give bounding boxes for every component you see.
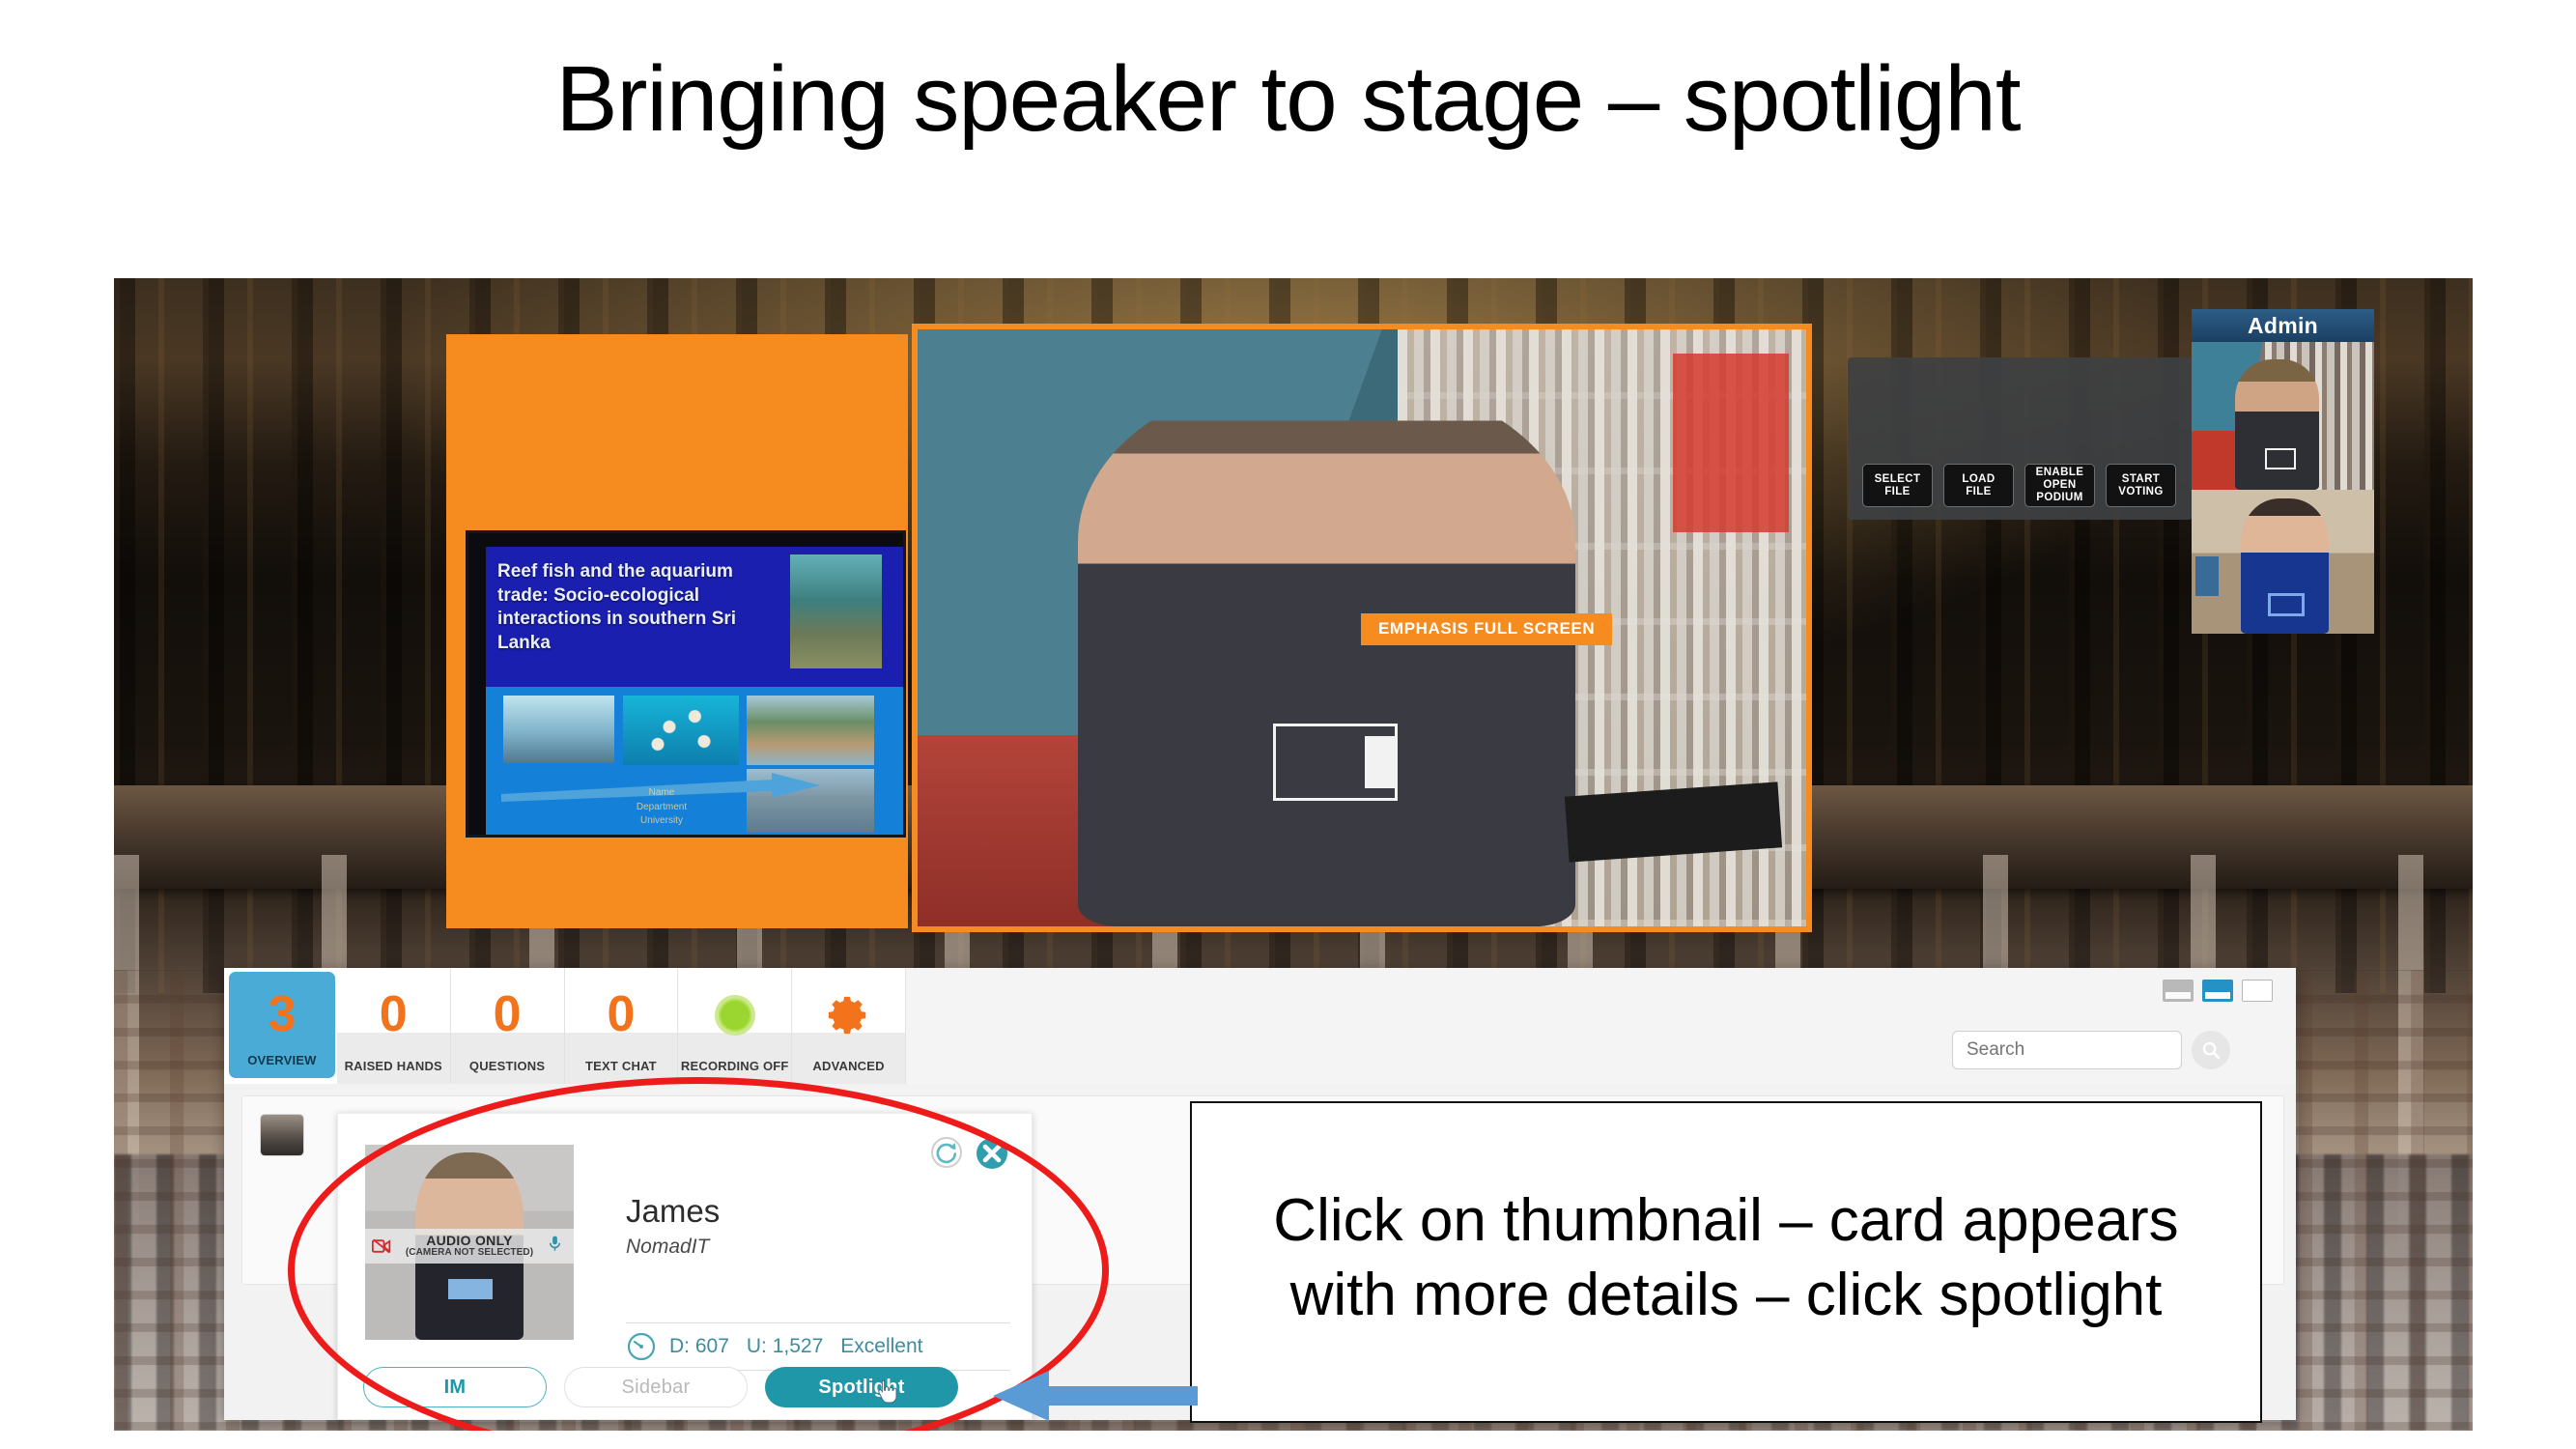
layout-view-1-button[interactable] [2163, 980, 2194, 1002]
audio-only-text: AUDIO ONLY (CAMERA NOT SELECTED) [406, 1234, 533, 1258]
tab-recording[interactable]: RECORDING OFF [678, 968, 792, 1084]
presentation-panel[interactable]: Reef fish and the aquarium trade: Socio-… [446, 334, 908, 928]
screenshot-frame: Reef fish and the aquarium trade: Socio-… [114, 278, 2473, 1431]
blue-pointer-arrow [993, 1366, 1198, 1426]
window-layout-controls[interactable] [2163, 980, 2273, 1002]
select-file-button[interactable]: SELECT FILE [1862, 464, 1933, 507]
recording-indicator-icon [715, 995, 755, 1036]
audio-only-line1: AUDIO ONLY [406, 1234, 533, 1248]
presentation-slide: Reef fish and the aquarium trade: Socio-… [466, 530, 906, 838]
admin-tools-panel: SELECT FILE LOAD FILE ENABLE OPEN PODIUM… [1848, 357, 2193, 520]
camera-off-icon [372, 1237, 391, 1254]
tab-raised-hands-label: RAISED HANDS [337, 1059, 450, 1073]
instruction-callout: Click on thumbnail – card appears with m… [1190, 1101, 2262, 1423]
sidebar-button[interactable]: Sidebar [564, 1367, 748, 1407]
instruction-callout-text: Click on thumbnail – card appears with m… [1225, 1184, 2227, 1333]
participant-name: James [626, 1193, 720, 1230]
questions-count: 0 [494, 989, 522, 1039]
participant-organization: NomadIT [626, 1236, 709, 1259]
page-title: Bringing speaker to stage – spotlight [0, 46, 2576, 153]
tab-recording-label: RECORDING OFF [678, 1059, 791, 1073]
emphasis-full-screen-tag: EMPHASIS FULL SCREEN [1361, 613, 1612, 645]
tab-overview-label: OVERVIEW [229, 1053, 335, 1067]
upload-rate: U: 1,527 [747, 1335, 823, 1358]
participant-detail-card[interactable]: AUDIO ONLY (CAMERA NOT SELECTED) James N… [337, 1113, 1033, 1420]
slide-photo-shore [747, 696, 874, 765]
background-object [2195, 556, 2220, 597]
text-chat-count: 0 [607, 989, 635, 1039]
shelf-red-book [1673, 354, 1789, 532]
admin-tools-row: SELECT FILE LOAD FILE ENABLE OPEN PODIUM… [1862, 464, 2176, 507]
tab-advanced[interactable]: ADVANCED [792, 968, 906, 1084]
stat-values: D: 607 U: 1,527 Excellent [669, 1335, 922, 1358]
im-button[interactable]: IM [363, 1367, 547, 1407]
slide-author-block: Name Department University [584, 786, 739, 829]
admin-video-2[interactable] [2192, 490, 2374, 634]
load-file-button[interactable]: LOAD FILE [1943, 464, 2014, 507]
participant-video-thumbnail[interactable]: AUDIO ONLY (CAMERA NOT SELECTED) [365, 1145, 574, 1340]
slide-title-text: Reef fish and the aquarium trade: Socio-… [497, 560, 744, 656]
raised-hands-count: 0 [380, 989, 408, 1039]
admin-hoodie-logo-2 [2268, 593, 2305, 616]
search-input[interactable] [1952, 1031, 2182, 1069]
slide-reef-photo [790, 554, 882, 668]
slide-author-univ: University [584, 814, 739, 829]
participant-collar [448, 1279, 492, 1298]
download-rate: D: 607 [669, 1335, 729, 1358]
participant-thumbnail[interactable] [260, 1114, 304, 1156]
mouse-cursor-icon [877, 1379, 898, 1405]
admin-video-1[interactable] [2192, 342, 2374, 490]
slide-author-name: Name [584, 786, 739, 801]
connection-quality: Excellent [840, 1335, 922, 1358]
connection-stats: D: 607 U: 1,527 Excellent [626, 1322, 1010, 1371]
microphone-icon [546, 1235, 564, 1258]
tab-overview[interactable]: 3 OVERVIEW [229, 972, 335, 1078]
audio-only-line2: (CAMERA NOT SELECTED) [406, 1248, 533, 1259]
speaker-figure [1078, 377, 1575, 926]
overview-count: 3 [268, 989, 296, 1039]
tab-advanced-label: ADVANCED [792, 1059, 905, 1073]
tab-raised-hands[interactable]: 0 RAISED HANDS [337, 968, 451, 1084]
slide-photo-beach [503, 696, 614, 763]
app-toolbar: 3 OVERVIEW 0 RAISED HANDS 0 QUESTIONS 0 … [224, 968, 906, 1084]
gear-icon [827, 993, 871, 1037]
layout-view-2-button[interactable] [2202, 980, 2233, 1002]
card-action-buttons: IM Sidebar Spotlight [363, 1367, 1006, 1407]
admin-video-stack[interactable]: Admin [2192, 309, 2374, 634]
tab-text-chat-label: TEXT CHAT [565, 1059, 678, 1073]
spotlight-button[interactable]: Spotlight [765, 1367, 958, 1407]
search-icon[interactable] [2192, 1031, 2230, 1069]
tab-text-chat[interactable]: 0 TEXT CHAT [565, 968, 679, 1084]
tab-questions[interactable]: 0 QUESTIONS [451, 968, 565, 1084]
speedometer-icon [626, 1331, 657, 1362]
refresh-icon[interactable] [929, 1135, 964, 1170]
slide-photo-fish [623, 696, 739, 765]
admin-panel-header: Admin [2192, 309, 2374, 342]
admin-tshirt-logo-1 [2265, 448, 2296, 469]
close-icon[interactable] [974, 1135, 1010, 1172]
layout-view-3-button[interactable] [2242, 980, 2273, 1002]
search-area [1952, 1031, 2230, 1069]
tshirt-logo [1273, 724, 1398, 801]
audio-only-overlay: AUDIO ONLY (CAMERA NOT SELECTED) [365, 1229, 574, 1264]
admin-person-1 [2235, 359, 2319, 490]
slide-author-dept: Department [584, 801, 739, 815]
start-voting-button[interactable]: START VOTING [2106, 464, 2176, 507]
tab-questions-label: QUESTIONS [451, 1059, 564, 1073]
enable-open-podium-button[interactable]: ENABLE OPEN PODIUM [2024, 464, 2095, 507]
